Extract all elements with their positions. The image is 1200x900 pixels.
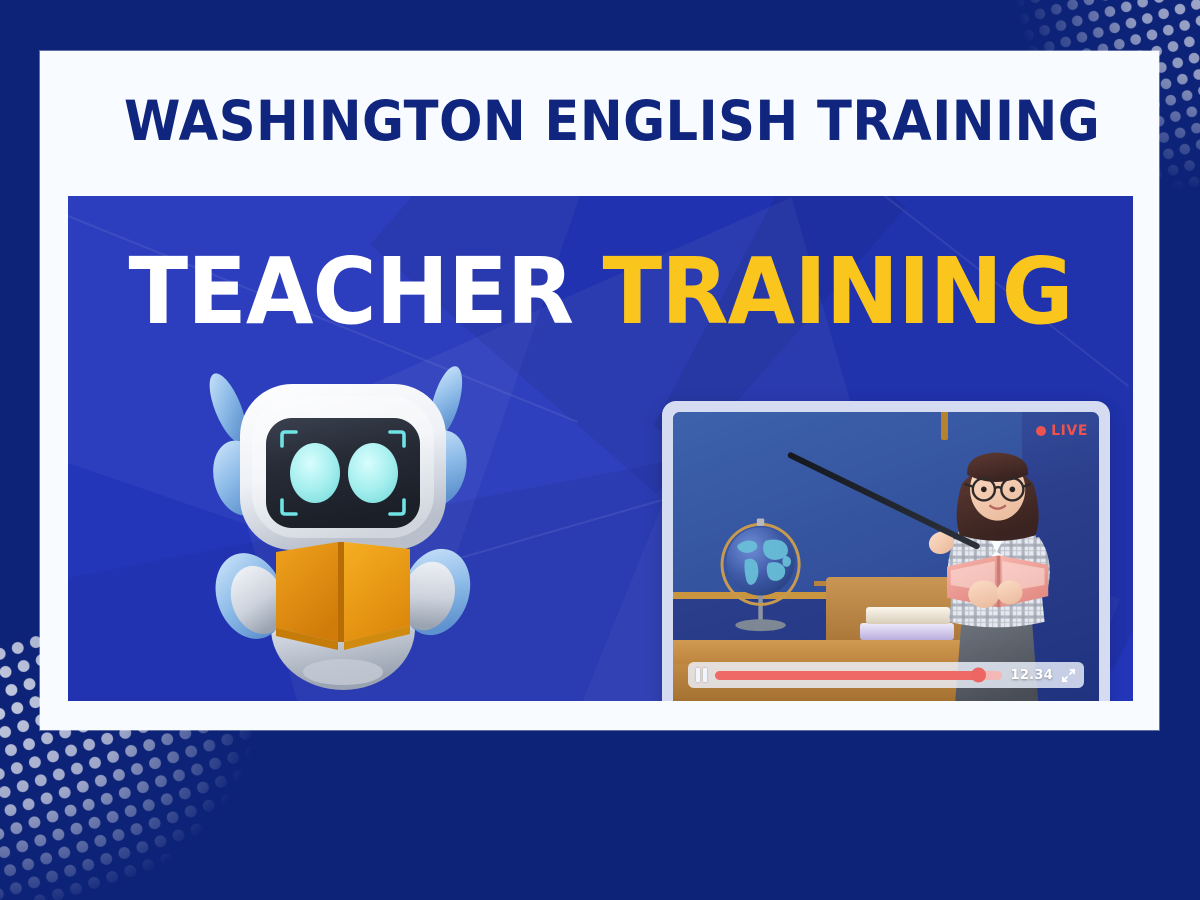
- fullscreen-icon[interactable]: [1061, 668, 1076, 683]
- video-screen: LIVE: [673, 412, 1099, 701]
- teacher-hand-left: [968, 580, 999, 608]
- time-label: 12.34: [1010, 668, 1053, 683]
- hero-panel: TEACHER TRAINING: [68, 196, 1133, 701]
- live-label: LIVE: [1051, 423, 1088, 439]
- live-dot-icon: [1036, 426, 1046, 436]
- teacher-hand-right: [997, 580, 1023, 604]
- robot-eye-left: [290, 443, 340, 503]
- live-badge: LIVE: [1036, 423, 1088, 439]
- progress-fill: [715, 671, 980, 680]
- video-control-bar[interactable]: 12.34: [688, 662, 1084, 688]
- robot-book: [276, 542, 410, 650]
- page-title: WASHINGTON ENGLISH TRAINING: [124, 92, 1082, 150]
- robot-eye-right: [348, 443, 398, 503]
- robot-illustration: [178, 356, 508, 696]
- video-player[interactable]: LIVE: [662, 401, 1110, 701]
- progress-knob[interactable]: [971, 668, 986, 683]
- progress-bar[interactable]: [715, 671, 1003, 680]
- globe-illustration: [711, 514, 818, 640]
- headline-word-training: TRAINING: [603, 238, 1073, 345]
- headline-word-teacher: TEACHER: [128, 238, 573, 345]
- teacher-skirt: [954, 616, 1039, 701]
- poster-root: WASHINGTON ENGLISH TRAINING TEACHER TRAI…: [0, 0, 1200, 900]
- content-card: WASHINGTON ENGLISH TRAINING TEACHER TRAI…: [40, 51, 1159, 730]
- hero-headline: TEACHER TRAINING: [95, 244, 1107, 340]
- pause-button[interactable]: [696, 668, 707, 682]
